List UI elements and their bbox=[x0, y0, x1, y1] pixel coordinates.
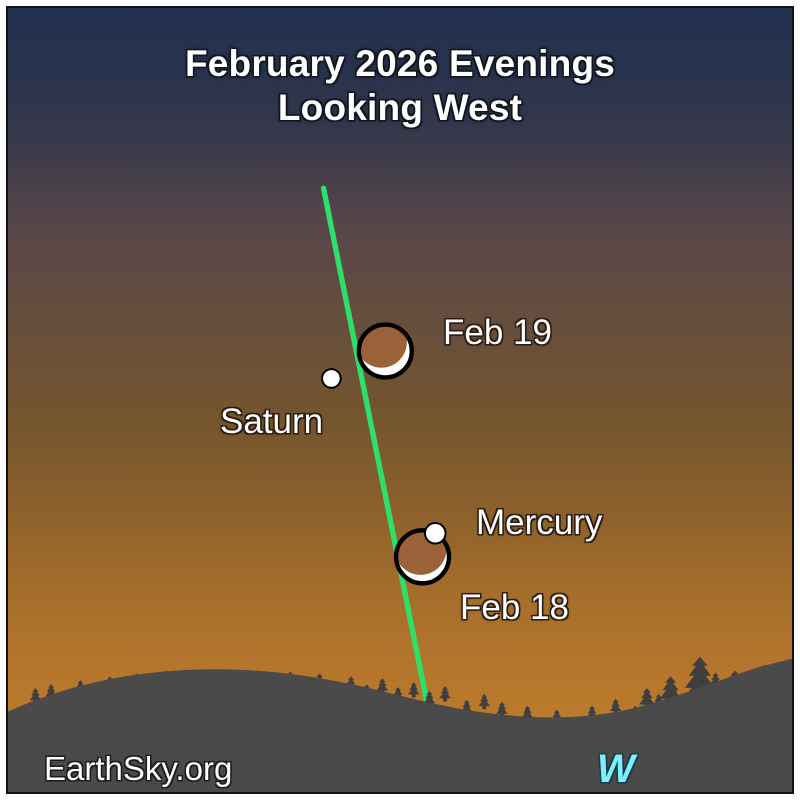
compass-direction-west: W bbox=[597, 747, 635, 792]
earthsky-watermark: EarthSky.org bbox=[44, 750, 232, 788]
sky-image-card: February 2026 Evenings Looking West bbox=[6, 6, 794, 794]
ground-horizon bbox=[8, 8, 792, 792]
sky-chart: February 2026 Evenings Looking West bbox=[0, 0, 800, 800]
